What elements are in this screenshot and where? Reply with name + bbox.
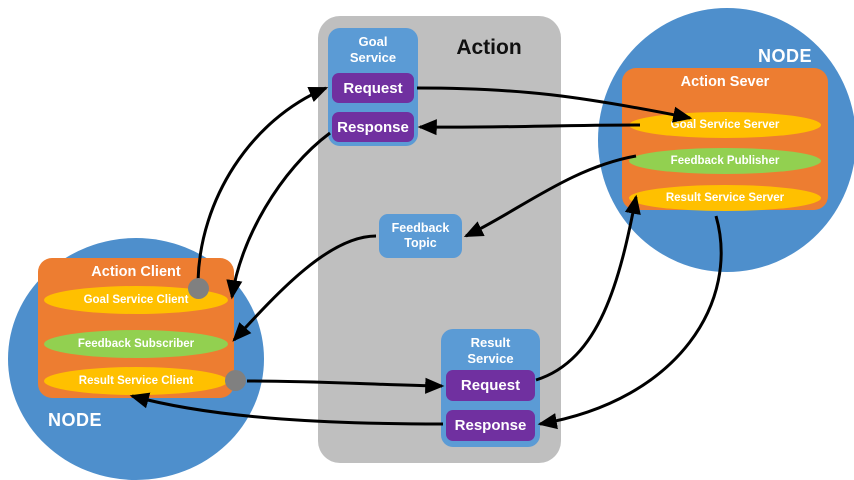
pill-result-service-client[interactable]: Result Service Client: [44, 367, 228, 395]
result-service-response-box[interactable]: Response: [446, 410, 535, 441]
pill-feedback-publisher[interactable]: Feedback Publisher: [629, 148, 821, 174]
goal-service-response-box[interactable]: Response: [332, 112, 414, 142]
action-panel-title: Action: [424, 36, 554, 60]
feedback-topic-box[interactable]: Feedback Topic: [379, 214, 462, 258]
goal-service-title-line1: Goal: [359, 34, 388, 49]
result-service-request-box[interactable]: Request: [446, 370, 535, 401]
feedback-topic-line2: Topic: [404, 236, 436, 251]
pill-feedback-subscriber[interactable]: Feedback Subscriber: [44, 330, 228, 358]
action-diagram-canvas: Action Goal Service Request Response Fee…: [0, 0, 854, 480]
connector-dot-goal-client: [188, 278, 209, 299]
goal-service-title-line2: Service: [350, 50, 396, 65]
arrow-goal-client-to-request: [198, 88, 326, 281]
feedback-topic-line1: Feedback: [392, 221, 450, 236]
result-service-title-line2: Service: [467, 351, 513, 366]
result-service-title: Result Service: [441, 335, 540, 367]
pill-result-service-server[interactable]: Result Service Server: [629, 185, 821, 211]
arrow-goal-response-to-client: [232, 133, 330, 297]
connector-dot-result-client: [225, 370, 246, 391]
goal-service-title: Goal Service: [328, 34, 418, 66]
goal-service-request-box[interactable]: Request: [332, 73, 414, 103]
server-node-label: NODE: [758, 46, 812, 67]
action-client-title: Action Client: [38, 264, 234, 280]
result-service-title-line1: Result: [471, 335, 511, 350]
action-server-title: Action Sever: [622, 74, 828, 90]
client-node-label: NODE: [48, 410, 102, 431]
pill-goal-service-server[interactable]: Goal Service Server: [629, 112, 821, 138]
